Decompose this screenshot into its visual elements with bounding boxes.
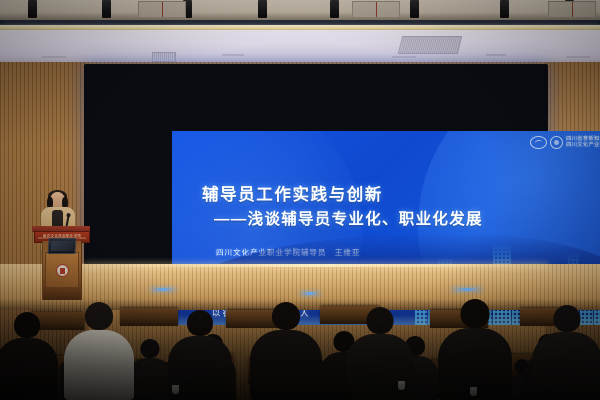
slide-title-sub: ——浅谈辅导员专业化、职业化发展 [214, 207, 483, 229]
ceiling-spotlight-icon [500, 0, 509, 18]
ceiling-seam [392, 56, 416, 58]
ceiling-panel [352, 1, 400, 18]
ceiling-vent-small [152, 52, 176, 62]
ceiling-lower-panel [0, 30, 600, 62]
slide-title-main: 辅导员工作实践与创新 [202, 181, 383, 205]
ceiling-panel [138, 1, 186, 18]
ceiling-panel [548, 1, 596, 18]
ceiling-seam [222, 54, 244, 56]
ceiling-spotlight-icon [330, 0, 339, 18]
ceiling-upper-band [0, 0, 600, 22]
ceiling-spotlight-icon [102, 0, 111, 18]
conference-presentation-photo: 四川省育新知识学院 四川文化产业职业学院 辅导员工作实践与创新 ——浅谈辅导员专… [0, 0, 600, 400]
logo-text-block: 四川省育新知识学院 四川文化产业职业学院 [566, 137, 600, 148]
logo-line-2: 四川文化产业职业学院 [566, 143, 600, 148]
led-screen-bezel: 四川省育新知识学院 四川文化产业职业学院 辅导员工作实践与创新 ——浅谈辅导员专… [84, 64, 548, 264]
circular-seal-icon [550, 136, 563, 149]
ceiling-spotlight-icon [28, 0, 37, 18]
room-shadow-gradient [0, 300, 600, 400]
ceiling-seam [42, 56, 66, 58]
laptop-icon [47, 238, 76, 254]
swoosh-emblem-icon [530, 136, 547, 149]
school-logo-group: 四川省育新知识学院 四川文化产业职业学院 [530, 136, 600, 149]
ceiling-seam [566, 56, 590, 58]
ceiling-vent [398, 36, 462, 54]
ceiling-spotlight-icon [410, 0, 419, 18]
ceiling-seam [486, 54, 506, 56]
ceiling-spotlight-icon [258, 0, 267, 18]
